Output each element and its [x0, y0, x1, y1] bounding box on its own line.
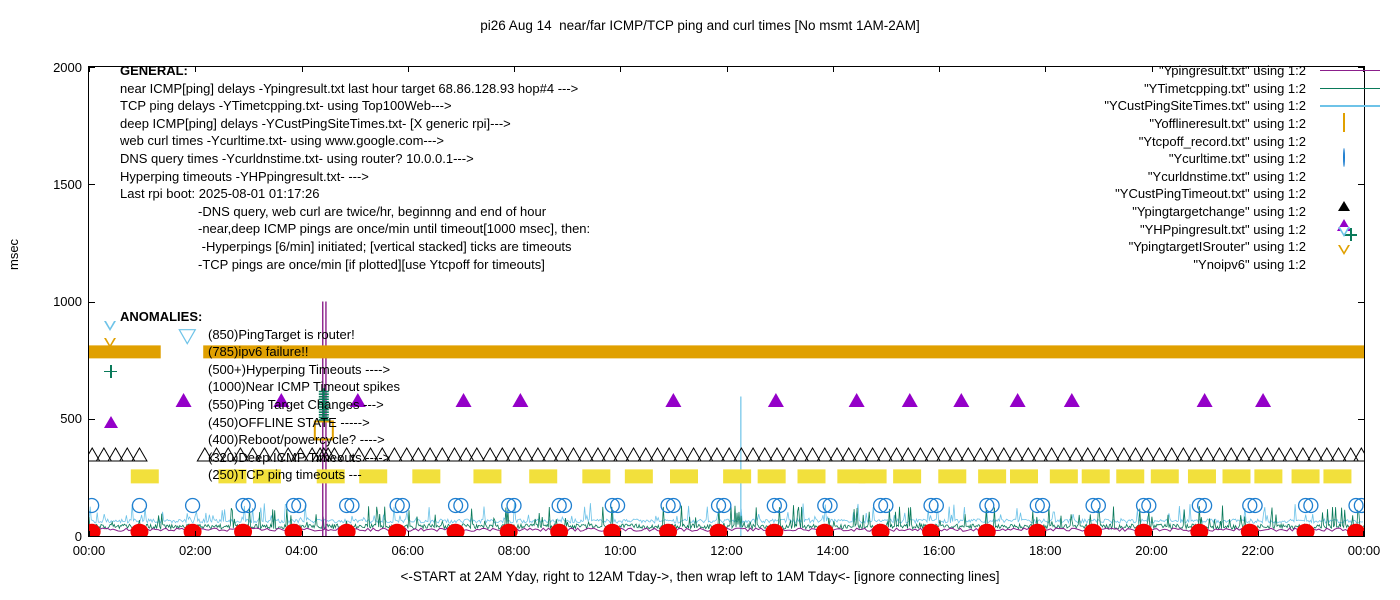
y-tick-label: 1000 [42, 295, 82, 308]
legend-key [1314, 238, 1386, 256]
anomaly-item: (320)Deep ICMP Timeouts ----> [120, 449, 400, 467]
legend-entry[interactable]: "Ypingresult.txt" using 1:2 [996, 62, 1386, 80]
legend-label: "Yofflineresult.txt" using 1:2 [1149, 117, 1314, 130]
legend-key [1314, 62, 1386, 80]
anomaly-label: (450)OFFLINE STATE -----> [208, 415, 370, 430]
general-line: web curl times -Ycurltime.txt- using www… [120, 132, 590, 150]
anomaly-item: (1000)Near ICMP Timeout spikes [120, 378, 400, 396]
anomaly-label: (1000)Near ICMP Timeout spikes [208, 379, 400, 394]
x-tick-label: 06:00 [391, 544, 424, 557]
anomaly-item: (785)ipv6 failure!! [120, 343, 400, 361]
x-tick-label: 10:00 [604, 544, 637, 557]
x-tick-label: 20:00 [1135, 544, 1168, 557]
anomaly-label: (785)ipv6 failure!! [208, 344, 308, 359]
legend-entry[interactable]: "Ycurltime.txt" using 1:2 [996, 150, 1386, 168]
legend-label: "YpingtargetISrouter" using 1:2 [1129, 240, 1314, 253]
general-annotation-block: GENERAL: near ICMP[ping] delays -Ypingre… [120, 62, 590, 273]
anomaly-item: (400)Reboot/powercycle? ----> [120, 431, 400, 449]
legend-label: "Ypingresult.txt" using 1:2 [1159, 64, 1314, 77]
legend-label: "Ycurltime.txt" using 1:2 [1169, 152, 1314, 165]
x-tick-mark [1045, 531, 1046, 537]
anomalies-annotation-block: ANOMALIES: (850)PingTarget is router!(78… [120, 308, 400, 484]
x-tick-mark [939, 66, 940, 72]
legend-key [1314, 168, 1386, 186]
x-tick-label: 04:00 [285, 544, 318, 557]
general-heading: GENERAL: [120, 62, 590, 80]
anomaly-item: (850)PingTarget is router! [120, 326, 400, 344]
triangle-up-open-icon [1338, 184, 1350, 202]
y-tick-label: 2000 [42, 61, 82, 74]
legend-entry[interactable]: "Ycurldnstime.txt" using 1:2 [996, 168, 1386, 186]
legend-label: "YHPpingresult.txt" using 1:2 [1140, 223, 1314, 236]
line-purple-icon [1320, 70, 1380, 71]
triangle-up-purple-icon [1337, 202, 1351, 220]
legend-key [1314, 256, 1386, 274]
anomaly-label: (550)Ping Target Changes ---> [208, 397, 384, 412]
anomalies-heading: ANOMALIES: [120, 308, 400, 326]
x-tick-mark [89, 531, 90, 537]
legend-entry[interactable]: "YHPpingresult.txt" using 1:2 [996, 220, 1386, 238]
square-open-orange-icon [1343, 114, 1345, 132]
legend-label: "YCustPingSiteTimes.txt" using 1:2 [1104, 99, 1314, 112]
x-tick-mark [302, 531, 303, 537]
x-tick-label: 16:00 [923, 544, 956, 557]
x-tick-mark [727, 531, 728, 537]
legend-key [1314, 132, 1386, 150]
legend-key [1314, 97, 1386, 115]
legend-key [1314, 150, 1386, 168]
legend-key [1314, 80, 1386, 98]
legend-label: "Ypingtargetchange" using 1:2 [1132, 205, 1314, 218]
x-tick-mark [89, 66, 90, 72]
legend-label: "Ycurldnstime.txt" using 1:2 [1148, 170, 1314, 183]
x-tick-label: 08:00 [498, 544, 531, 557]
legend-entry[interactable]: "YCustPingSiteTimes.txt" using 1:2 [996, 97, 1386, 115]
triangle-down-orange-icon [1338, 255, 1350, 273]
legend-entry[interactable]: "Ytcpoff_record.txt" using 1:2 [996, 132, 1386, 150]
general-line: Hyperping timeouts -YHPpingresult.txt- -… [120, 168, 590, 186]
x-tick-label: 02:00 [179, 544, 212, 557]
anomaly-label: (400)Reboot/powercycle? ----> [208, 432, 385, 447]
chart-title: pi26 Aug 14 near/far ICMP/TCP ping and c… [0, 19, 1400, 32]
x-tick-mark [1152, 531, 1153, 537]
y-axis-label: msec [6, 239, 21, 270]
x-tick-label: 00:00 [1348, 544, 1381, 557]
x-tick-label: 18:00 [1029, 544, 1062, 557]
anomaly-label: (850)PingTarget is router! [208, 327, 355, 342]
general-line: TCP ping delays -YTimetcpping.txt- using… [120, 97, 590, 115]
y-tick-label: 0 [42, 530, 82, 543]
triangle-up-purple-icon [104, 400, 118, 418]
general-lines: near ICMP[ping] delays -Ypingresult.txt … [120, 80, 590, 203]
general-indented-line: -DNS query, web curl are twice/hr, begin… [120, 203, 590, 221]
anomaly-label: (320)Deep ICMP Timeouts ----> [208, 450, 390, 465]
circle-open-blue-icon [1343, 149, 1345, 167]
general-line: near ICMP[ping] delays -Ypingresult.txt … [120, 80, 590, 98]
legend-key [1314, 115, 1386, 133]
x-tick-mark [408, 531, 409, 537]
x-tick-label: 14:00 [816, 544, 849, 557]
anomaly-item: (250)TCP ping timeouts --- [120, 466, 400, 484]
x-tick-mark [620, 531, 621, 537]
legend-label: "YCustPingTimeout.txt" using 1:2 [1115, 187, 1314, 200]
line-lightblue-icon [1320, 105, 1380, 106]
legend-entry[interactable]: "Ynoipv6" using 1:2 [996, 256, 1386, 274]
anomaly-label: (250)TCP ping timeouts --- [208, 467, 362, 482]
y-tick-label: 500 [42, 412, 82, 425]
x-tick-mark [833, 531, 834, 537]
x-tick-label: 22:00 [1241, 544, 1274, 557]
line-green-icon [1320, 88, 1380, 89]
legend-entry[interactable]: "Ypingtargetchange" using 1:2 [996, 203, 1386, 221]
anomaly-lines: (850)PingTarget is router!(785)ipv6 fail… [120, 326, 400, 484]
general-indented-line: -near,deep ICMP pings are once/min until… [120, 220, 590, 238]
legend-label: "Ytcpoff_record.txt" using 1:2 [1139, 135, 1314, 148]
general-indented-line: -Hyperpings [6/min] initiated; [vertical… [120, 238, 590, 256]
legend-entry[interactable]: "YpingtargetISrouter" using 1:2 [996, 238, 1386, 256]
legend-label: "Ynoipv6" using 1:2 [1193, 258, 1314, 271]
x-tick-mark [833, 66, 834, 72]
x-axis-caption: <-START at 2AM Yday, right to 12AM Tday-… [0, 570, 1400, 583]
general-indented-lines: -DNS query, web curl are twice/hr, begin… [120, 203, 590, 273]
anomaly-item: (450)OFFLINE STATE -----> [120, 414, 400, 432]
x-tick-mark [1258, 531, 1259, 537]
x-tick-mark [514, 531, 515, 537]
x-tick-mark [1363, 531, 1364, 537]
legend-key [1314, 185, 1386, 203]
legend-key [1314, 203, 1386, 221]
legend: "Ypingresult.txt" using 1:2"YTimetcpping… [996, 62, 1386, 273]
legend-entry[interactable]: "Yofflineresult.txt" using 1:2 [996, 115, 1386, 133]
x-tick-mark [195, 531, 196, 537]
legend-entry[interactable]: "YTimetcpping.txt" using 1:2 [996, 80, 1386, 98]
x-tick-mark [727, 66, 728, 72]
general-line: DNS query times -Ycurldnstime.txt- using… [120, 150, 590, 168]
general-line: deep ICMP[ping] delays -YCustPingSiteTim… [120, 115, 590, 133]
anomaly-item: (500+)Hyperping Timeouts ----> [120, 361, 400, 379]
legend-label: "YTimetcpping.txt" using 1:2 [1144, 82, 1314, 95]
x-tick-label: 00:00 [73, 544, 106, 557]
anomaly-item: (550)Ping Target Changes ---> [120, 396, 400, 414]
x-tick-label: 12:00 [710, 544, 743, 557]
triangle-down-orange-icon [104, 347, 116, 365]
legend-key [1314, 220, 1386, 238]
legend-entry[interactable]: "YCustPingTimeout.txt" using 1:2 [996, 185, 1386, 203]
general-line: Last rpi boot: 2025-08-01 01:17:26 [120, 185, 590, 203]
y-tick-label: 1500 [42, 178, 82, 191]
anomaly-label: (500+)Hyperping Timeouts ----> [208, 362, 390, 377]
general-indented-line: -TCP pings are once/min [if plotted][use… [120, 256, 590, 274]
x-tick-mark [620, 66, 621, 72]
x-tick-mark [939, 531, 940, 537]
